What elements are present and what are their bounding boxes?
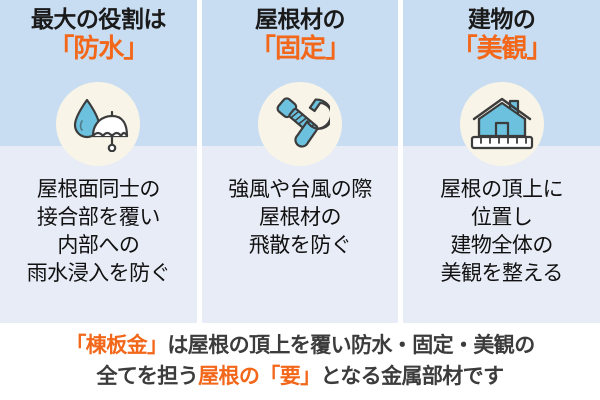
body-line: 屋根面同士の — [0, 176, 197, 204]
heading-line-1: 建物の — [403, 6, 600, 33]
summary-line-2-text-a: 全てを担う — [97, 365, 199, 388]
body-line: 建物全体の — [403, 232, 600, 260]
panel-body-text: 屋根の頂上に 位置し 建物全体の 美観を整える — [403, 176, 600, 289]
icon-circle — [460, 82, 544, 166]
body-line: 飛散を防ぐ — [202, 232, 399, 260]
body-line: 強風や台風の際 — [202, 176, 399, 204]
heading-line-1: 屋根材の — [202, 6, 399, 33]
heading-line-2: 「美観」 — [403, 33, 600, 64]
body-line: 屋根材の — [202, 204, 399, 232]
body-line: 内部への — [0, 232, 197, 260]
infographic-root: 最大の役割は 「防水」 — [0, 0, 600, 400]
raindrop-umbrella-icon — [67, 96, 129, 152]
summary-highlight-kaname: 屋根の「要」 — [198, 365, 320, 388]
body-line: 美観を整える — [403, 260, 600, 288]
house-ruler-icon — [470, 95, 534, 153]
body-line: 屋根の頂上に — [403, 176, 600, 204]
panel-fixing: 屋根材の 「固定」 — [202, 0, 399, 323]
heading-line-2: 「防水」 — [0, 33, 197, 64]
panel-heading: 最大の役割は 「防水」 — [0, 6, 197, 64]
panel-waterproof: 最大の役割は 「防水」 — [0, 0, 197, 323]
panel-body-text: 強風や台風の際 屋根材の 飛散を防ぐ — [202, 176, 399, 260]
icon-circle — [258, 82, 342, 166]
panel-appearance: 建物の 「美観」 — [403, 0, 600, 323]
panel-row: 最大の役割は 「防水」 — [0, 0, 600, 323]
summary-line-1: 「棟板金」は屋根の頂上を覆い防水・固定・美観の — [65, 331, 534, 361]
summary-highlight-munebankin: 「棟板金」 — [65, 334, 167, 357]
panel-heading: 屋根材の 「固定」 — [202, 6, 399, 64]
bolt-wrench-icon — [270, 96, 330, 152]
panel-heading: 建物の 「美観」 — [403, 6, 600, 64]
summary-line-2: 全てを担う屋根の「要」となる金属部材です — [97, 362, 504, 392]
panel-body-text: 屋根面同士の 接合部を覆い 内部への 雨水浸入を防ぐ — [0, 176, 197, 289]
body-line: 雨水浸入を防ぐ — [0, 260, 197, 288]
summary-banner: 「棟板金」は屋根の頂上を覆い防水・固定・美観の 全てを担う屋根の「要」となる金属… — [0, 323, 600, 400]
body-line: 接合部を覆い — [0, 204, 197, 232]
summary-line-1-text: は屋根の頂上を覆い防水・固定・美観の — [167, 334, 534, 357]
body-line: 位置し — [403, 204, 600, 232]
heading-line-1: 最大の役割は — [0, 6, 197, 33]
summary-line-2-text-b: となる金属部材です — [321, 365, 504, 388]
icon-circle — [56, 82, 140, 166]
heading-line-2: 「固定」 — [202, 33, 399, 64]
